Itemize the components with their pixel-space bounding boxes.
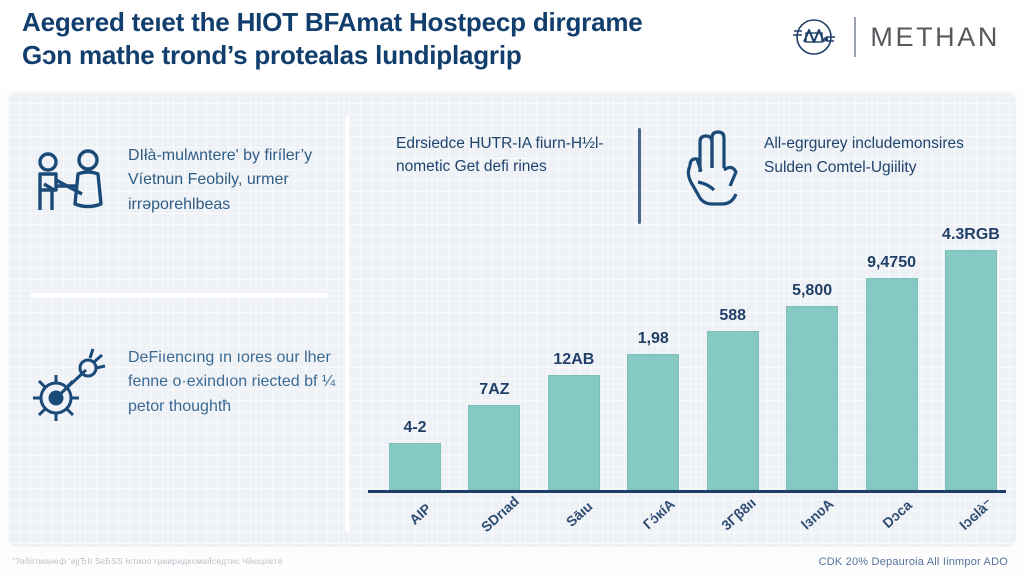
x-axis-tick-label: AIP <box>406 500 455 551</box>
x-axis-tick-label: Sāıu <box>563 498 617 553</box>
x-axis-tick-slot: Sāıu <box>545 496 603 556</box>
footer-right-note: CDK 20% Depauroia All Iinmpor ADO <box>819 556 1008 568</box>
bar-value-label: 9,4750 <box>867 254 916 272</box>
chart-caption-right-text: All-egrgurey includemonsires Sulden Comt… <box>764 126 1010 180</box>
bar-value-label: 4.3RGB <box>942 226 1000 244</box>
bar <box>786 306 838 490</box>
footer-left-note: °ʔəбіітманеф ʹəјјЂІІ ЅєБЅЅ Ɨєтиоо гρиири… <box>12 556 283 566</box>
feature-item-1: DIłà-mulʍntеrе' by firíler’y Víetnun Feo… <box>26 140 336 226</box>
x-axis-tick-slot: AIP <box>386 496 444 556</box>
feature-item-2-text: DeFiıencıng ın ıores our lher fenne o·ex… <box>128 342 336 419</box>
circular-emblem-icon <box>788 11 840 63</box>
hand-holding-gear-icon <box>680 126 750 208</box>
feature-row-divider <box>30 293 328 298</box>
bar <box>707 331 759 490</box>
page-title: Aegered teıet the HIOT BFAmat Hostpecp d… <box>22 6 722 73</box>
x-axis-tick-label: Iɔɢlà⁻ <box>956 495 1017 557</box>
bar <box>389 443 441 490</box>
x-axis-tick-slot: lзnʋA <box>783 496 841 556</box>
chart-caption-middle: Edrsiedсe HUTR-IA fiurn-H½l-nometic Get … <box>396 132 636 179</box>
x-axis-tick-label: Dɔсa <box>879 497 936 555</box>
x-axis-tick-slot: Iɔɢlà⁻ <box>942 496 1000 556</box>
feature-item-1-text: DIłà-mulʍntеrе' by firíler’y Víetnun Feo… <box>128 140 336 217</box>
x-axis-line <box>368 490 1006 493</box>
caption-divider <box>638 128 641 224</box>
x-axis-tick-slot: SDrıad <box>465 496 523 556</box>
bar-chart-plot-area: 4-27AZ12AB1,985885,8009,47504.3RGB <box>386 222 1000 490</box>
bar <box>866 278 918 490</box>
bar <box>627 354 679 490</box>
bar-value-label: 1,98 <box>638 330 669 348</box>
two-people-handshake-icon <box>26 140 112 226</box>
virus-microscope-icon <box>26 342 112 428</box>
page-title-line1: Aegered teıet the HIOT BFAmat Hostpecp d… <box>22 7 643 37</box>
bar-slot: 1,98 <box>624 222 682 490</box>
x-axis-tick-label: Гɔ́кíA <box>640 496 699 556</box>
brand-logo: METHAN <box>788 10 1000 64</box>
bar-slot: 9,4750 <box>863 222 921 490</box>
page-title-line2: Gɔn mathe trond’s protealas lundiplagrip <box>22 39 722 72</box>
x-axis-tick-label: SDrıad <box>478 493 544 559</box>
bar-slot: 588 <box>704 222 762 490</box>
column-divider <box>345 116 349 532</box>
bar <box>468 405 520 490</box>
x-axis-tick-labels: AIPSDrıadSāıuГɔ́кíA3Γβ8ıılзnʋADɔсaIɔɢlà⁻ <box>386 496 1000 556</box>
bar-value-label: 12AB <box>553 351 594 369</box>
x-axis-tick-slot: Гɔ́кíA <box>624 496 682 556</box>
bar-value-label: 588 <box>719 307 746 325</box>
bar-slot: 12AB <box>545 222 603 490</box>
bar-value-label: 4-2 <box>403 419 426 437</box>
content-panel: DIłà-mulʍntеrе' by firíler’y Víetnun Feo… <box>8 92 1016 547</box>
x-axis-tick-label: 3Γβ8ıı <box>718 495 780 558</box>
bar-slot: 7AZ <box>465 222 523 490</box>
slide-canvas: Aegered teıet the HIOT BFAmat Hostpecp d… <box>0 0 1024 576</box>
logo-wordmark: METHAN <box>870 22 1000 53</box>
bar-slot: 5,800 <box>783 222 841 490</box>
bar-slot: 4.3RGB <box>942 222 1000 490</box>
logo-divider <box>854 17 856 57</box>
bar <box>548 375 600 490</box>
x-axis-tick-slot: 3Γβ8ıı <box>704 496 762 556</box>
x-axis-tick-slot: Dɔсa <box>863 496 921 556</box>
bar-chart: 4-27AZ12AB1,985885,8009,47504.3RGB AIPSD… <box>356 222 1006 532</box>
bar-value-label: 5,800 <box>792 282 832 300</box>
chart-caption-right-group: All-egrgurey includemonsires Sulden Comt… <box>680 126 1010 208</box>
x-axis-tick-label: lзnʋA <box>798 495 858 556</box>
bar-value-label: 7AZ <box>479 381 509 399</box>
header: Aegered teıet the HIOT BFAmat Hostpecp d… <box>0 0 1024 90</box>
feature-item-2: DeFiıencıng ın ıores our lher fenne o·ex… <box>26 342 336 428</box>
bar <box>945 250 997 490</box>
bar-slot: 4-2 <box>386 222 444 490</box>
